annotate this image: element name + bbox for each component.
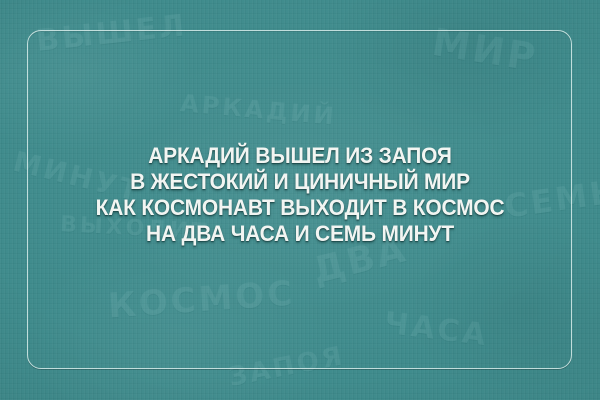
quote-line-3: КАК КОСМОНАВТ ВЫХОДИТ В КОСМОС — [21, 195, 579, 221]
quote-line-1: АРКАДИЙ ВЫШЕЛ ИЗ ЗАПОЯ — [21, 143, 579, 169]
quote-text-block: АРКАДИЙ ВЫШЕЛ ИЗ ЗАПОЯ В ЖЕСТОКИЙ И ЦИНИ… — [0, 143, 600, 247]
quote-card: ВЫШЕЛМИРКОСМОСЧАСАЗАПОЯМИНУТСЕМЬАРКАДИЙД… — [0, 0, 600, 400]
quote-line-4: НА ДВА ЧАСА И СЕМЬ МИНУТ — [21, 221, 579, 247]
quote-line-2: В ЖЕСТОКИЙ И ЦИНИЧНЫЙ МИР — [21, 169, 579, 195]
